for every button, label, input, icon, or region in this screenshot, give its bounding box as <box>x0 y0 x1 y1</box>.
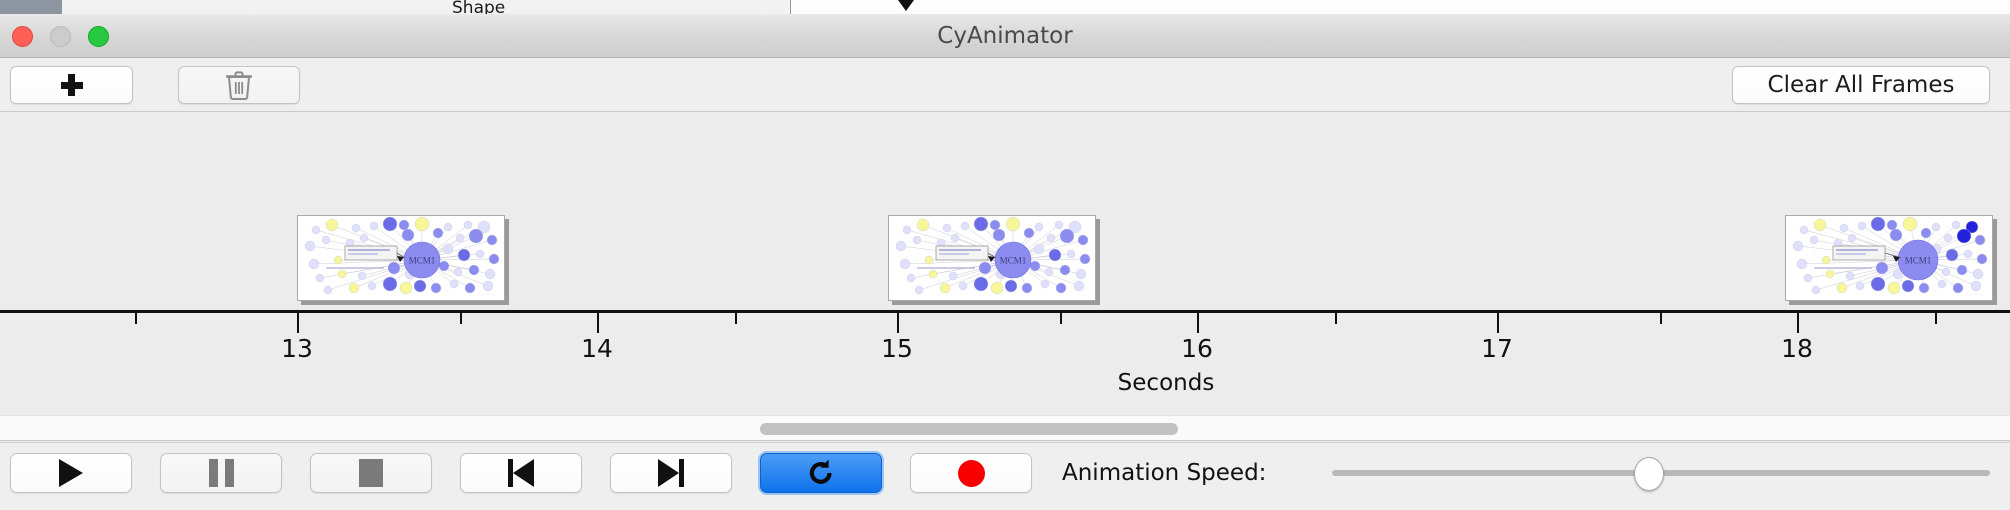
timeline-scrollbar[interactable] <box>0 415 2010 441</box>
add-frame-button[interactable] <box>10 66 133 104</box>
timeline-tick <box>1335 313 1337 324</box>
svg-text:MCM1: MCM1 <box>409 256 436 266</box>
record-button[interactable] <box>910 453 1032 493</box>
clear-all-frames-button[interactable]: Clear All Frames <box>1732 66 1990 104</box>
timeline-tick <box>460 313 462 324</box>
cyanimator-window: Shape CyAnimator Clear All Frames 121314… <box>0 0 2010 510</box>
clear-all-frames-label: Clear All Frames <box>1768 72 1955 98</box>
timeline-tick <box>735 313 737 324</box>
title-bar: CyAnimator <box>0 14 2010 58</box>
timeline-tick <box>1935 313 1937 324</box>
background-window-tab-label: Shape <box>452 0 505 15</box>
delete-frame-button[interactable] <box>178 66 300 104</box>
play-button[interactable] <box>10 453 132 493</box>
background-cell <box>694 0 747 14</box>
background-cell <box>244 0 305 14</box>
timeline-tick-label: 17 <box>1481 334 1513 363</box>
pause-icon <box>209 459 234 487</box>
skip-to-start-button[interactable] <box>460 453 582 493</box>
loop-button[interactable] <box>760 453 882 493</box>
skip-forward-icon <box>658 459 684 487</box>
timeline-tick <box>1660 313 1662 324</box>
svg-text:MCM1: MCM1 <box>1000 256 1027 266</box>
pause-button[interactable] <box>160 453 282 493</box>
background-sort-arrow-icon <box>898 0 914 11</box>
background-cell <box>62 0 183 14</box>
playback-control-bar: Animation Speed: <box>0 442 2010 510</box>
animation-speed-slider[interactable] <box>1332 465 1990 481</box>
timeline-tick-label: 16 <box>1181 334 1213 363</box>
timeline-tick <box>1197 313 1199 333</box>
timeline-axis-line <box>0 310 2010 313</box>
toolbar: Clear All Frames <box>0 58 2010 112</box>
timeline-tick-label: 18 <box>1781 334 1813 363</box>
timeline-tick <box>897 313 899 333</box>
loop-icon <box>806 458 836 488</box>
animation-speed-label: Animation Speed: <box>1062 453 1266 493</box>
background-cell <box>746 0 791 14</box>
svg-text:MCM1: MCM1 <box>1905 256 1932 266</box>
timeline-tick <box>1497 313 1499 333</box>
stop-button[interactable] <box>310 453 432 493</box>
skip-back-icon <box>508 459 534 487</box>
frame-thumbnail-2[interactable]: MCM1 <box>888 215 1096 301</box>
play-icon <box>59 459 83 487</box>
window-title: CyAnimator <box>0 14 2010 58</box>
timeline-scrollbar-thumb[interactable] <box>760 423 1178 435</box>
background-cell <box>182 0 245 14</box>
slider-thumb[interactable] <box>1634 457 1664 491</box>
trash-icon <box>226 70 252 100</box>
timeline-tick <box>597 313 599 333</box>
timeline-tick-label: 14 <box>581 334 613 363</box>
background-window-sidebar <box>0 0 62 14</box>
timeline-axis-title: Seconds <box>1118 370 1215 396</box>
timeline-tick <box>1797 313 1799 333</box>
stop-icon <box>359 459 383 487</box>
skip-to-end-button[interactable] <box>610 453 732 493</box>
timeline-tick-label: 13 <box>281 334 313 363</box>
background-window-strip: Shape <box>0 0 2010 15</box>
frame-thumbnail-1[interactable]: MCM1 <box>297 215 505 301</box>
frame-thumbnail-3[interactable]: MCM1 <box>1785 215 1993 301</box>
background-cell <box>304 0 365 14</box>
background-cell <box>604 0 695 14</box>
timeline-panel[interactable]: 12131415161718 MCM1MCM1MCM1 Seconds <box>0 112 2010 415</box>
background-cell <box>544 0 605 14</box>
timeline-tick <box>135 313 137 324</box>
plus-icon <box>61 74 83 96</box>
timeline-tick <box>297 313 299 333</box>
timeline-tick <box>1060 313 1062 324</box>
timeline-tick-label: 15 <box>881 334 913 363</box>
record-icon <box>958 460 985 487</box>
